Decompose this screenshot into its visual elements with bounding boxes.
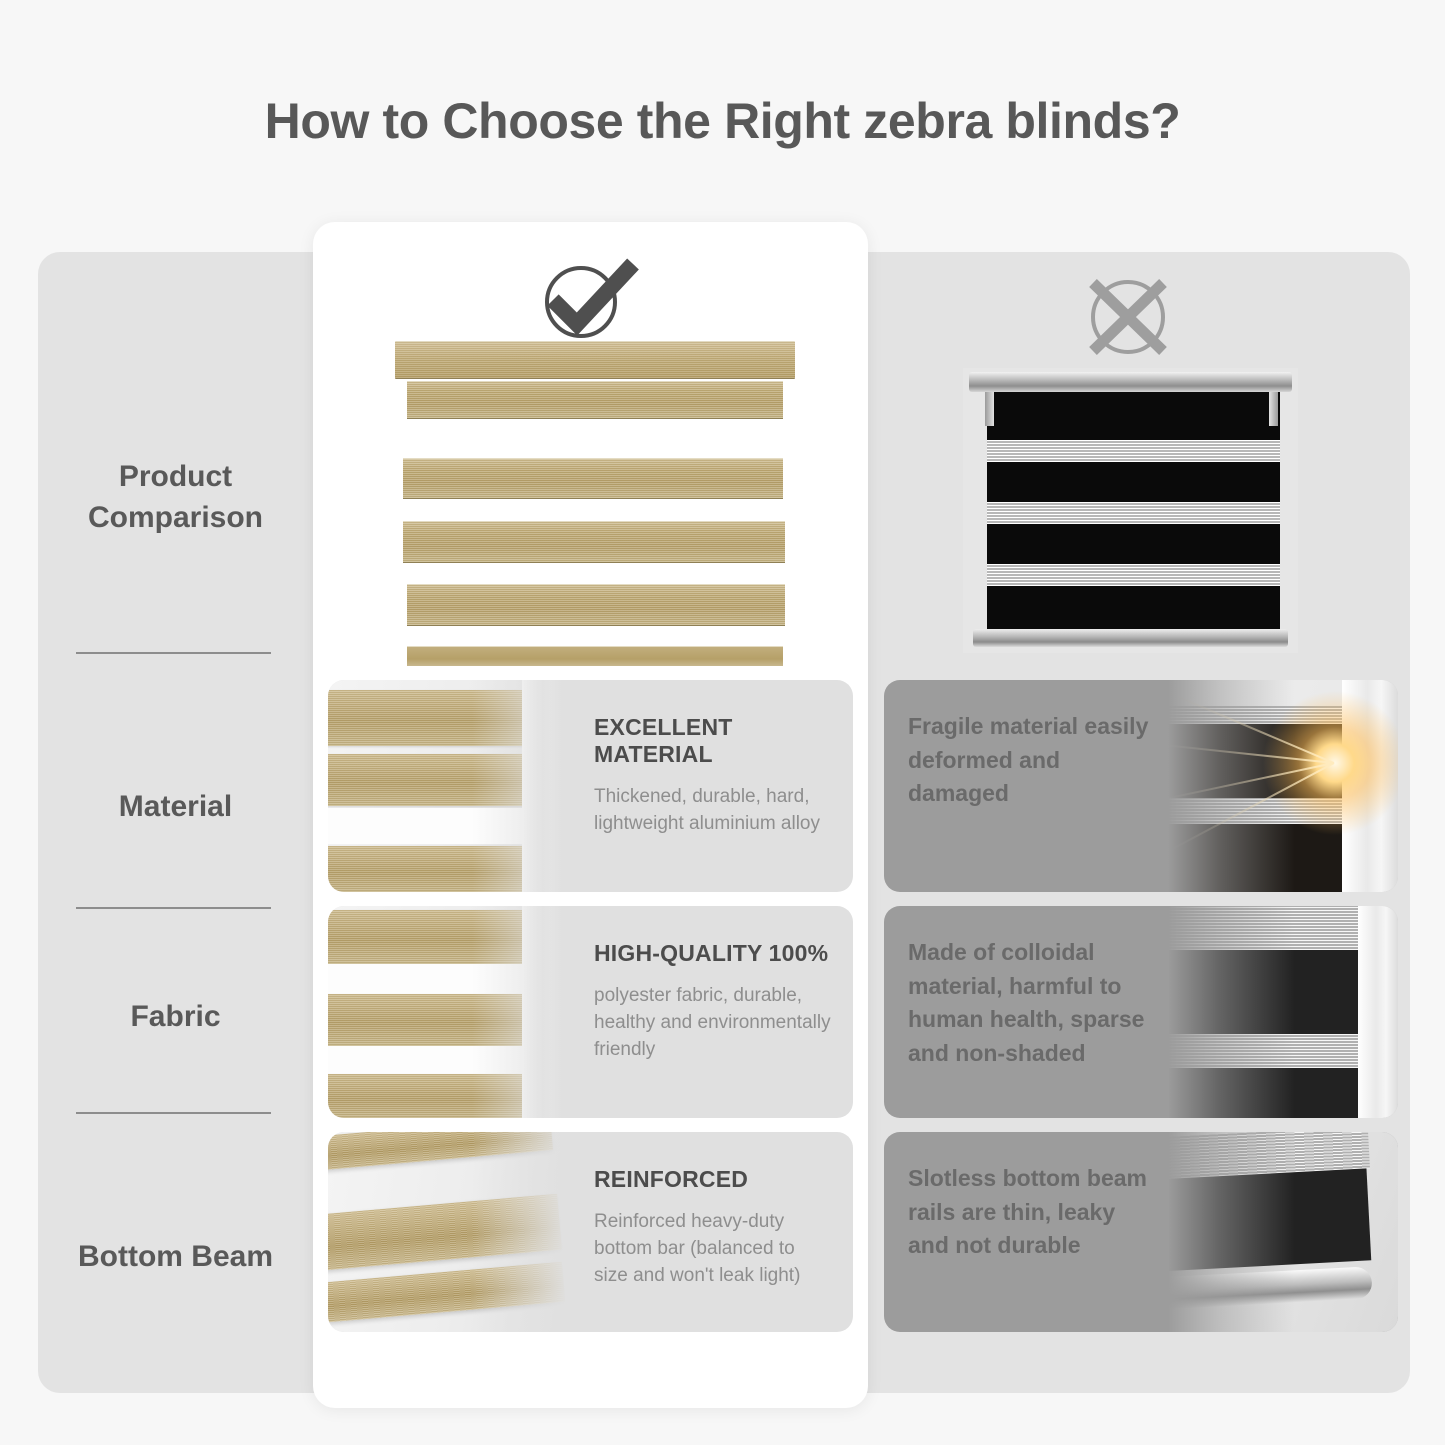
blind-bottom-bar <box>407 646 783 666</box>
row-label-column: Product Comparison Material Fabric Botto… <box>38 252 313 1393</box>
bad-feature-material: Fragile material easily deformed and dam… <box>884 680 1398 892</box>
feature-body: Thickened, durable, hard, lightweight al… <box>594 784 833 838</box>
good-bottom-beam-text: REINFORCED Reinforced heavy-duty bottom … <box>568 1132 853 1332</box>
blind-slat <box>407 381 783 419</box>
bad-material-photo <box>1168 680 1398 892</box>
bad-hero-image <box>963 368 1298 653</box>
row-divider <box>76 652 271 654</box>
row-label-bottom-beam: Bottom Beam <box>38 1182 313 1332</box>
feature-heading: EXCELLENT MATERIAL <box>594 714 833 768</box>
blind-headrail <box>395 341 795 379</box>
good-fabric-text: HIGH-QUALITY 100% polyester fabric, dura… <box>568 906 853 1118</box>
blind-headrail <box>969 372 1292 392</box>
feature-heading: REINFORCED <box>594 1166 833 1193</box>
good-bottom-beam-photo <box>328 1132 568 1332</box>
bad-feature-fabric: Made of colloidal material, harmful to h… <box>884 906 1398 1118</box>
bad-material-text: Fragile material easily deformed and dam… <box>884 680 1168 892</box>
blind-sheer-band <box>987 502 1280 524</box>
feature-heading: HIGH-QUALITY 100% <box>594 940 833 967</box>
row-divider <box>76 1112 271 1114</box>
good-feature-bottom-beam: REINFORCED Reinforced heavy-duty bottom … <box>328 1132 853 1332</box>
feature-body: Made of colloidal material, harmful to h… <box>908 936 1158 1070</box>
good-feature-fabric: HIGH-QUALITY 100% polyester fabric, dura… <box>328 906 853 1118</box>
feature-body: polyester fabric, durable, healthy and e… <box>594 983 833 1064</box>
blind-slat <box>403 521 785 563</box>
page-title: How to Choose the Right zebra blinds? <box>0 92 1445 150</box>
blind-sheer-band <box>987 564 1280 586</box>
good-feature-material: EXCELLENT MATERIAL Thickened, durable, h… <box>328 680 853 892</box>
bad-feature-bottom-beam: Slotless bottom beam rails are thin, lea… <box>884 1132 1398 1332</box>
feature-body: Reinforced heavy-duty bottom bar (balanc… <box>594 1209 833 1290</box>
feature-body: Slotless bottom beam rails are thin, lea… <box>908 1162 1158 1263</box>
infographic-page: How to Choose the Right zebra blinds? Pr… <box>0 0 1445 1445</box>
row-label-product-comparison: Product Comparison <box>38 422 313 572</box>
good-material-text: EXCELLENT MATERIAL Thickened, durable, h… <box>568 680 853 892</box>
good-hero-image <box>395 341 795 666</box>
good-fabric-photo <box>328 906 568 1118</box>
row-divider <box>76 907 271 909</box>
check-circle-icon <box>532 248 640 344</box>
blind-bottom-rail <box>973 629 1288 647</box>
feature-body: Fragile material easily deformed and dam… <box>908 710 1158 811</box>
bad-fabric-text: Made of colloidal material, harmful to h… <box>884 906 1168 1118</box>
row-label-fabric: Fabric <box>38 967 313 1067</box>
cross-circle-icon <box>1076 268 1180 366</box>
good-material-photo <box>328 680 568 892</box>
blind-slat <box>403 458 783 499</box>
bad-bottom-beam-photo <box>1168 1132 1398 1332</box>
blind-sheer-band <box>987 440 1280 462</box>
bad-bottom-beam-text: Slotless bottom beam rails are thin, lea… <box>884 1132 1168 1332</box>
row-label-material: Material <box>38 757 313 857</box>
bad-fabric-photo <box>1168 906 1398 1118</box>
blind-slat <box>407 584 785 626</box>
